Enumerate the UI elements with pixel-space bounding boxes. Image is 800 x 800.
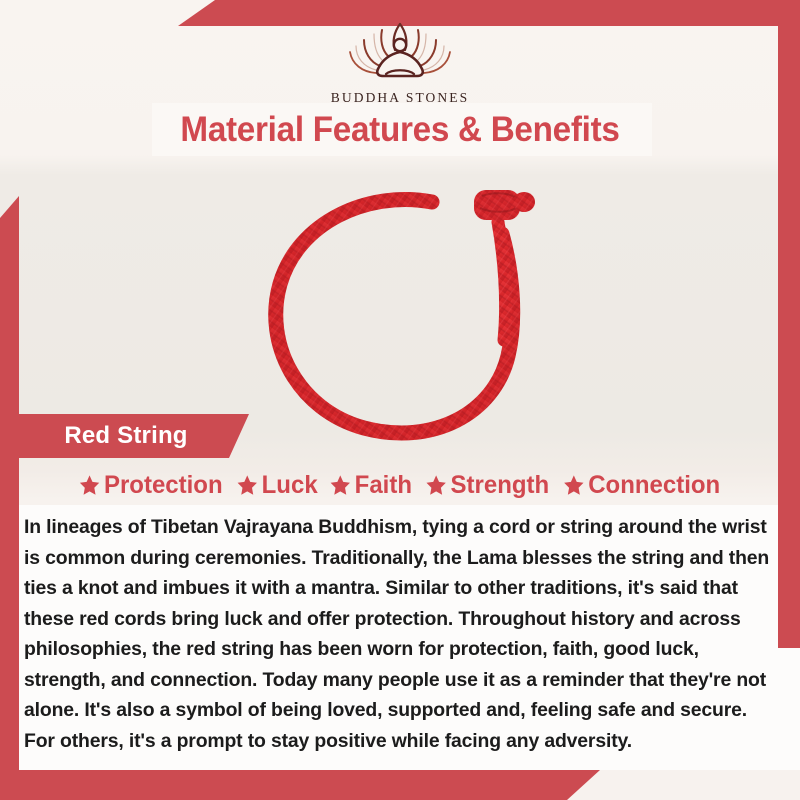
feature-item: Protection bbox=[79, 471, 223, 500]
brand-logo: BUDDHA STONES bbox=[0, 14, 800, 106]
infographic-canvas: BUDDHA STONES Material Features & Benefi… bbox=[0, 0, 800, 800]
feature-item: Connection bbox=[564, 471, 721, 500]
star-icon bbox=[236, 474, 257, 496]
star-icon bbox=[330, 474, 351, 496]
feature-item: Faith bbox=[330, 471, 412, 500]
adjustable-knot-icon bbox=[474, 190, 535, 220]
feature-label: Luck bbox=[261, 471, 317, 500]
feature-label: Strength bbox=[450, 471, 549, 500]
feature-label: Protection bbox=[104, 471, 223, 500]
star-icon bbox=[79, 474, 100, 496]
section-banner-label: Red String bbox=[19, 414, 249, 458]
product-image bbox=[236, 160, 576, 470]
feature-label: Connection bbox=[589, 471, 721, 500]
feature-label: Faith bbox=[355, 471, 412, 500]
feature-item: Luck bbox=[236, 471, 317, 500]
feature-item: Strength bbox=[425, 471, 549, 500]
lotus-meditation-icon bbox=[334, 14, 466, 86]
page-title: Material Features & Benefits bbox=[20, 103, 780, 156]
star-icon bbox=[564, 474, 585, 496]
red-string-bracelet-illustration bbox=[236, 160, 576, 470]
star-icon bbox=[425, 474, 446, 496]
description-text: In lineages of Tibetan Vajrayana Buddhis… bbox=[24, 512, 776, 756]
features-row: Protection Luck Faith Strength Connectio… bbox=[24, 466, 776, 504]
